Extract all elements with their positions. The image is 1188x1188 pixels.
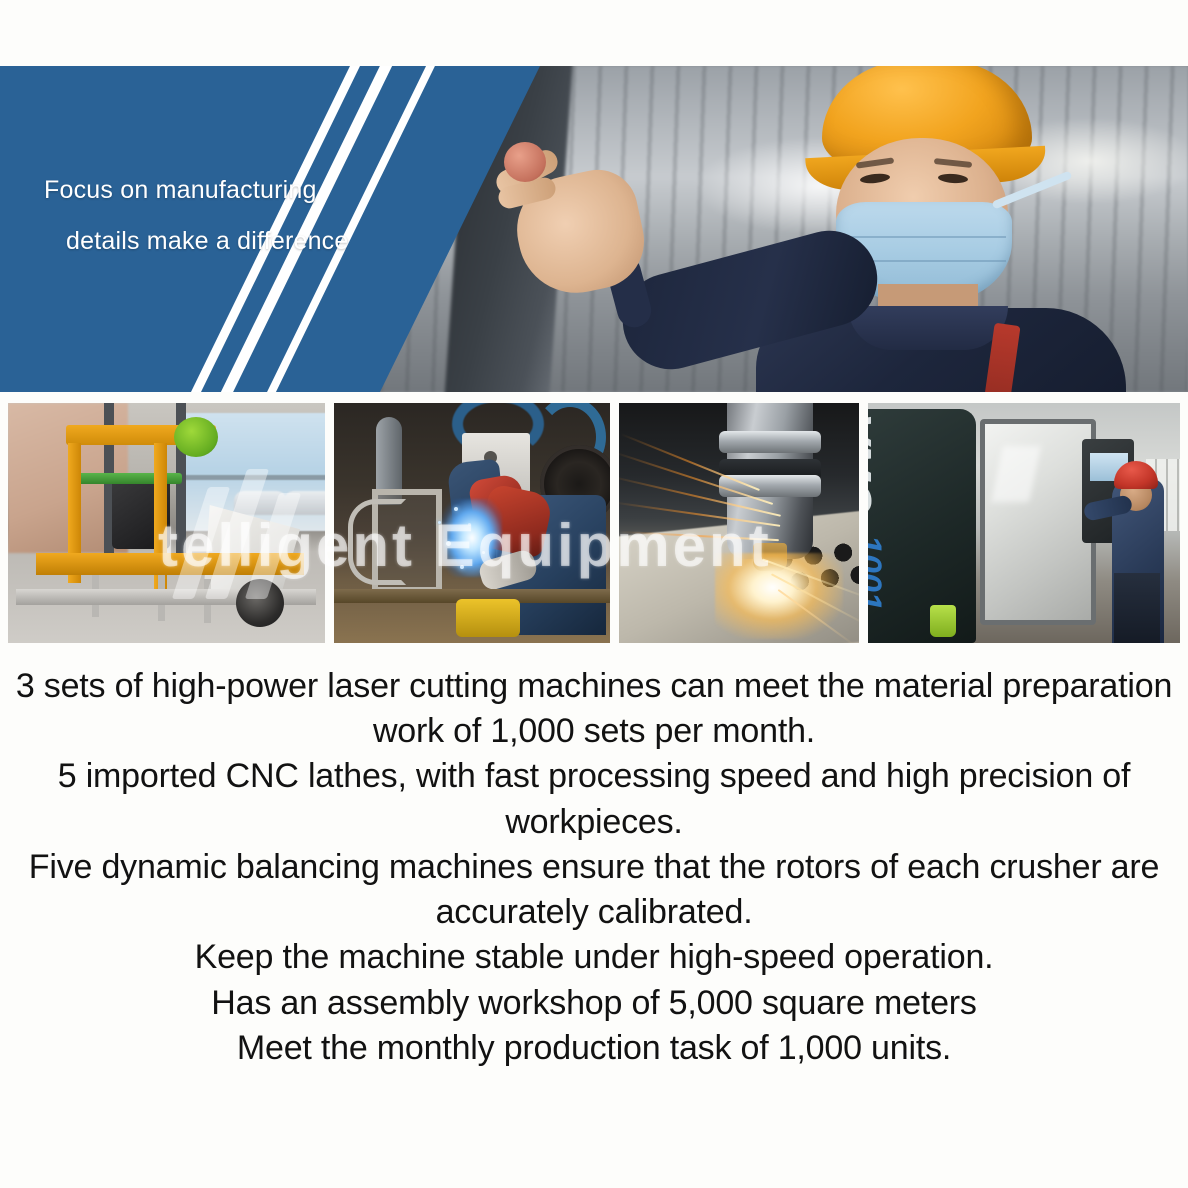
description-text-block: 3 sets of high-power laser cutting machi…	[0, 664, 1188, 1071]
machine-brand-label: VMC	[868, 413, 882, 512]
yellow-power-tool	[456, 599, 520, 637]
trailer-wheel	[236, 579, 284, 627]
gallery-item-welding[interactable]	[334, 403, 610, 643]
machine-door	[980, 419, 1096, 625]
weld-spark	[438, 521, 441, 524]
headline-line-2: details make a difference	[66, 229, 540, 254]
sawmill-deck	[36, 553, 304, 575]
hero-banner: Focus on manufacturing details make a di…	[0, 66, 1188, 392]
product-detail-page: Focus on manufacturing details make a di…	[0, 0, 1188, 1188]
weld-spark	[454, 507, 458, 511]
description-paragraph: 5 imported CNC lathes, with fast process…	[14, 754, 1174, 844]
green-coolant-bottle	[930, 605, 956, 637]
description-paragraph: Five dynamic balancing machines ensure t…	[14, 845, 1174, 935]
weld-spark	[446, 541, 451, 546]
machine-model-label: 1001	[868, 535, 888, 611]
head-ring	[719, 431, 821, 453]
image-gallery: VMC 1001	[8, 403, 1180, 643]
gallery-item-laser-cutting[interactable]	[619, 403, 859, 643]
worker-photo	[560, 66, 1120, 392]
parked-car	[234, 491, 288, 515]
description-paragraph: 3 sets of high-power laser cutting machi…	[14, 664, 1174, 754]
weld-spark	[460, 565, 464, 569]
operator-legs	[1114, 573, 1160, 643]
weld-spark	[482, 551, 485, 554]
bent-pipe-stock	[348, 499, 406, 585]
description-paragraph: Keep the machine stable under high-speed…	[14, 935, 1174, 980]
parked-car	[284, 491, 325, 515]
green-hoist-icon	[174, 417, 218, 457]
description-paragraph: Has an assembly workshop of 5,000 square…	[14, 981, 1174, 1026]
worker-collar	[848, 306, 1008, 350]
headline-line-1: Focus on manufacturing	[44, 178, 540, 203]
banner-headline: Focus on manufacturing details make a di…	[0, 66, 540, 254]
gallery-item-portable-sawmill[interactable]	[8, 403, 325, 643]
weld-spark	[468, 523, 471, 526]
gallery-item-cnc-machining-center[interactable]: VMC 1001	[868, 403, 1180, 643]
description-paragraph: Meet the monthly production task of 1,00…	[14, 1026, 1174, 1071]
